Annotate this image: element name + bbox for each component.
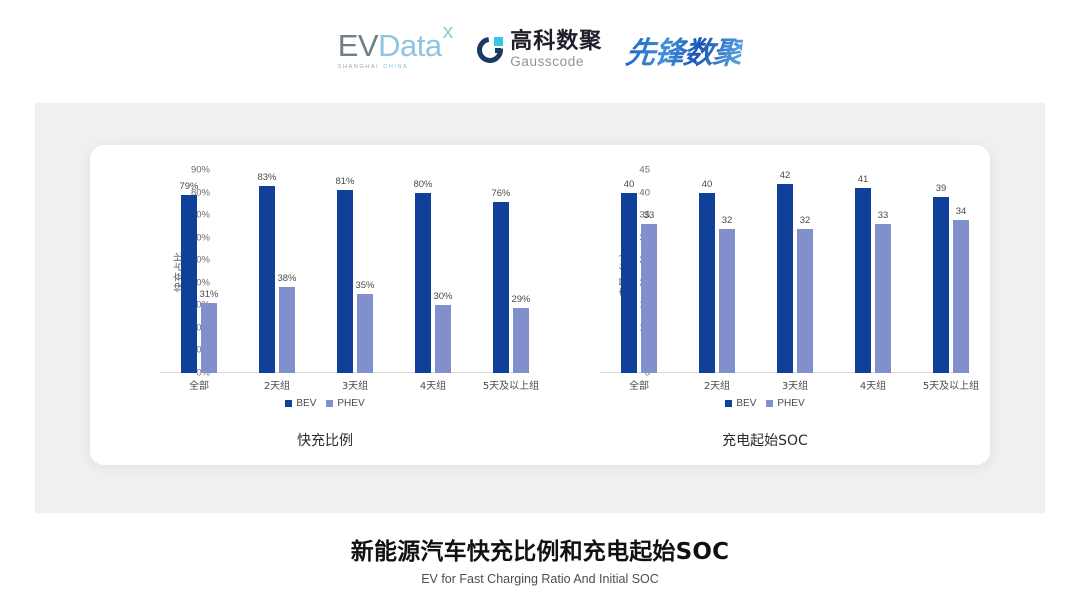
footer: 新能源汽车快充比例和充电起始SOC EV for Fast Charging R… [0, 532, 1080, 586]
bar-value-label: 79% [179, 181, 198, 192]
bar-value-label: 32 [722, 215, 733, 226]
charts-card: 快充占比 90%80%70%60%50%40%30%20%10%0% 79%31… [90, 145, 990, 465]
gausscode-wordmark: 高科数聚 Gausscode [510, 31, 602, 69]
legend-swatch-bev-icon [725, 400, 732, 407]
bar-wrap: 33 [875, 170, 891, 373]
bar-phev[interactable]: 31% [201, 303, 217, 373]
bar-value-label: 42 [780, 170, 791, 181]
bar-phev[interactable]: 38% [279, 287, 295, 373]
bar-bev[interactable]: 76% [493, 202, 509, 373]
gausscode-en-text: Gausscode [510, 55, 602, 69]
bar-value-label: 33 [644, 210, 655, 221]
logo-bar: EVDataX SHANGHAI CHINA 高科数聚 Gausscode 先锋… [0, 20, 1080, 80]
xianfeng-logo: 先锋数聚 [624, 28, 745, 72]
bar-phev[interactable]: 30% [435, 305, 451, 373]
bar-bev[interactable]: 83% [259, 186, 275, 373]
legend-label-phev: PHEV [777, 398, 804, 409]
bar-wrap: 39 [933, 170, 949, 373]
bar-wrap: 80% [415, 170, 431, 373]
slide-page: EVDataX SHANGHAI CHINA 高科数聚 Gausscode 先锋… [0, 0, 1080, 608]
bar-value-label: 30% [433, 291, 452, 302]
bar-phev[interactable]: 32 [719, 229, 735, 373]
legend-item-phev-left: PHEV [326, 398, 364, 409]
x-tick-label: 全部 [160, 377, 238, 393]
legend-item-bev-left: BEV [285, 398, 316, 409]
x-axis-labels-left: 全部2天组3天组4天组5天及以上组 [160, 377, 550, 393]
gausscode-logo: 高科数聚 Gausscode [477, 31, 602, 69]
bar-group: 81%35% [316, 170, 394, 373]
bar-phev[interactable]: 32 [797, 229, 813, 373]
x-tick-label: 3天组 [756, 377, 834, 393]
bar-group: 80%30% [394, 170, 472, 373]
x-tick-label: 2天组 [678, 377, 756, 393]
bar-bev[interactable]: 79% [181, 195, 197, 373]
bar-group: 4033 [600, 170, 678, 373]
legend-item-phev-right: PHEV [766, 398, 804, 409]
bar-group: 4032 [678, 170, 756, 373]
bar-wrap: 81% [337, 170, 353, 373]
bar-wrap: 32 [719, 170, 735, 373]
bar-bev[interactable]: 81% [337, 190, 353, 373]
bar-wrap: 83% [259, 170, 275, 373]
gauss-g-mark-icon [477, 37, 503, 63]
evdata-x-superscript-icon: X [443, 26, 454, 42]
x-tick-label: 3天组 [316, 377, 394, 393]
bar-value-label: 41 [858, 174, 869, 185]
bar-wrap: 30% [435, 170, 451, 373]
bar-phev[interactable]: 29% [513, 308, 529, 373]
bar-bev[interactable]: 40 [621, 193, 637, 373]
legend-left: BEV PHEV [100, 398, 550, 409]
x-axis-labels-right: 全部2天组3天组4天组5天及以上组 [600, 377, 990, 393]
x-tick-label: 2天组 [238, 377, 316, 393]
x-tick-label: 5天及以上组 [912, 377, 990, 393]
bar-wrap: 79% [181, 170, 197, 373]
bar-groups-left: 79%31%83%38%81%35%80%30%76%29% [160, 170, 550, 373]
bar-wrap: 29% [513, 170, 529, 373]
bar-value-label: 76% [491, 188, 510, 199]
bar-wrap: 41 [855, 170, 871, 373]
legend-swatch-phev-icon [766, 400, 773, 407]
bar-value-label: 34 [956, 206, 967, 217]
bar-value-label: 80% [413, 179, 432, 190]
legend-right: BEV PHEV [540, 398, 990, 409]
x-tick-label: 4天组 [394, 377, 472, 393]
bar-phev[interactable]: 34 [953, 220, 969, 373]
bar-wrap: 40 [699, 170, 715, 373]
legend-label-bev: BEV [736, 398, 756, 409]
bar-value-label: 40 [702, 179, 713, 190]
x-tick-label: 4天组 [834, 377, 912, 393]
evdata-tagline-china: CHINA [383, 64, 408, 70]
evdata-ev-text: EV [338, 30, 378, 61]
bar-group: 83%38% [238, 170, 316, 373]
legend-swatch-bev-icon [285, 400, 292, 407]
evdata-tagline-shanghai: SHANGHAI [338, 64, 380, 70]
bar-value-label: 38% [277, 273, 296, 284]
bar-wrap: 40 [621, 170, 637, 373]
bar-bev[interactable]: 41 [855, 188, 871, 373]
bar-wrap: 32 [797, 170, 813, 373]
legend-label-bev: BEV [296, 398, 316, 409]
evdata-data-text: Data [378, 30, 441, 61]
legend-label-phev: PHEV [337, 398, 364, 409]
bar-wrap: 35% [357, 170, 373, 373]
x-tick-label: 5天及以上组 [472, 377, 550, 393]
bar-value-label: 32 [800, 215, 811, 226]
bar-bev[interactable]: 42 [777, 184, 793, 373]
evdata-logo: EVDataX SHANGHAI CHINA [338, 30, 454, 70]
bar-wrap: 34 [953, 170, 969, 373]
bar-wrap: 31% [201, 170, 217, 373]
bar-group: 79%31% [160, 170, 238, 373]
bar-groups-right: 40334032423241333934 [600, 170, 990, 373]
bar-bev[interactable]: 39 [933, 197, 949, 373]
page-title: 新能源汽车快充比例和充电起始SOC [0, 532, 1080, 566]
bar-phev[interactable]: 33 [875, 224, 891, 373]
bar-bev[interactable]: 80% [415, 193, 431, 373]
chart-caption-left: 快充比例 [100, 430, 550, 450]
bar-value-label: 40 [624, 179, 635, 190]
bar-value-label: 81% [335, 176, 354, 187]
evdata-tagline: SHANGHAI CHINA [338, 64, 409, 70]
bar-wrap: 42 [777, 170, 793, 373]
chart-caption-right: 充电起始SOC [540, 430, 990, 450]
bar-group: 76%29% [472, 170, 550, 373]
bar-phev[interactable]: 35% [357, 294, 373, 373]
x-tick-label: 全部 [600, 377, 678, 393]
bar-value-label: 83% [257, 172, 276, 183]
bar-value-label: 33 [878, 210, 889, 221]
bar-wrap: 76% [493, 170, 509, 373]
gausscode-cn-text: 高科数聚 [510, 31, 602, 53]
bar-value-label: 29% [511, 294, 530, 305]
bar-group: 4133 [834, 170, 912, 373]
page-subtitle: EV for Fast Charging Ratio And Initial S… [0, 572, 1080, 586]
bar-value-label: 39 [936, 183, 947, 194]
bar-group: 3934 [912, 170, 990, 373]
chart-fast-charging-ratio: 快充占比 90%80%70%60%50%40%30%20%10%0% 79%31… [100, 145, 550, 465]
bar-wrap: 38% [279, 170, 295, 373]
bar-wrap: 33 [641, 170, 657, 373]
bar-value-label: 31% [199, 289, 218, 300]
chart-initial-soc: 电量（%） 454035302520151050 403340324232413… [540, 145, 990, 465]
bar-value-label: 35% [355, 280, 374, 291]
bar-group: 4232 [756, 170, 834, 373]
evdata-wordmark: EVDataX [338, 30, 454, 61]
legend-swatch-phev-icon [326, 400, 333, 407]
bar-bev[interactable]: 40 [699, 193, 715, 373]
legend-item-bev-right: BEV [725, 398, 756, 409]
bar-phev[interactable]: 33 [641, 224, 657, 373]
